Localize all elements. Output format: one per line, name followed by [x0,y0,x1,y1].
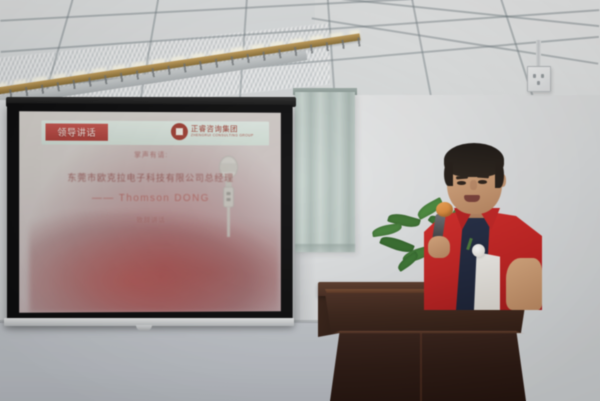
window-curtain [295,92,355,252]
hair-right-side [495,162,504,188]
right-arm [506,258,542,310]
curtain-hem [295,244,355,253]
slide-line-footer: 致辞讲话 [19,214,281,224]
microphone-head [436,202,453,217]
slide-line-title: 东莞市欧克拉电子科技有限公司总经理 [19,171,281,185]
lectern-seam [420,333,422,401]
logo-name-en: ZHENGRUI CONSULTING GROUP [191,134,254,138]
lectern-body [330,330,526,401]
socket-conduit [536,40,541,68]
photo-scene: 领导讲话 正睿咨询集团 ZHENGRUI CONSULTING GROUP [0,0,600,401]
screen-surface: 领导讲话 正睿咨询集团 ZHENGRUI CONSULTING GROUP [19,111,281,313]
slide-title-badge: 领导讲话 [45,123,107,140]
logo-seal-icon [171,123,188,140]
wall-power-socket[interactable] [527,66,551,92]
slide-line-speaker-name: —— Thomson DONG [19,193,281,204]
presenter [418,140,546,310]
logo-name-cn: 正睿咨询集团 [191,125,254,133]
lectern-highlight [330,331,526,334]
nose [470,180,477,190]
projection-screen: 领导讲话 正睿咨询集团 ZHENGRUI CONSULTING GROUP [7,103,293,323]
slide-company-logo: 正睿咨询集团 ZHENGRUI CONSULTING GROUP [171,123,254,140]
lapel-flower [472,244,485,257]
slide-text-block: 掌声有请: 东莞市欧克拉电子科技有限公司总经理 —— Thomson DONG … [19,150,281,225]
hand-holding-microphone [428,236,450,258]
slide-background-photo [29,212,279,313]
wall-lower [0,322,340,401]
slide-line-intro: 掌声有请: [19,150,281,161]
hair-left-side [444,162,453,186]
undershirt [474,252,500,310]
presentation-slide: 领导讲话 正睿咨询集团 ZHENGRUI CONSULTING GROUP [19,111,281,313]
mouth [464,195,480,202]
